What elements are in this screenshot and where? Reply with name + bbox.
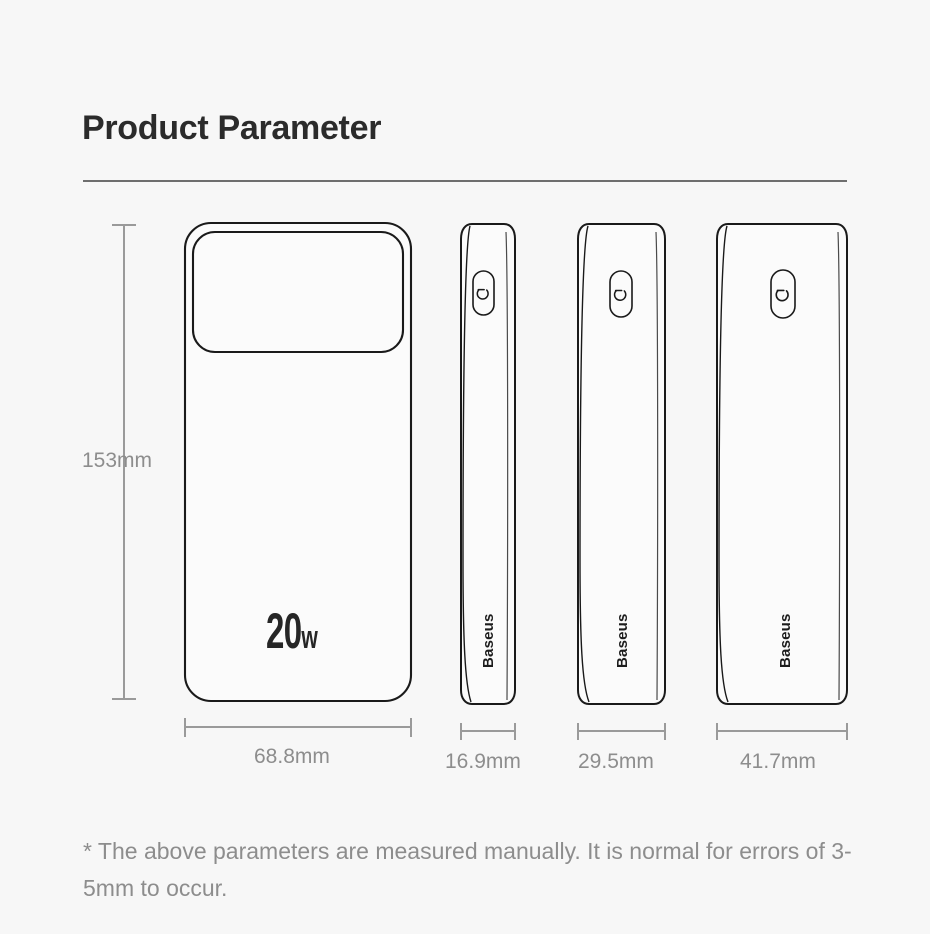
dimension-label-depth-wide: 41.7mm bbox=[740, 749, 816, 775]
dimension-label-depth-thin: 16.9mm bbox=[445, 749, 521, 775]
width-dimension-line-front bbox=[184, 718, 412, 737]
wattage-value: 20 bbox=[266, 603, 301, 659]
width-dimension-line-medium bbox=[577, 723, 666, 740]
brand-label-medium: Baseus bbox=[615, 613, 630, 668]
dimension-label-height: 153mm bbox=[82, 448, 152, 474]
wattage-label: 20w bbox=[266, 606, 317, 662]
footnote-text: * The above parameters are measured manu… bbox=[83, 833, 863, 907]
width-dimension-line-wide bbox=[716, 723, 848, 740]
wattage-unit: w bbox=[301, 619, 317, 655]
width-dimension-line-thin bbox=[460, 723, 516, 740]
brand-label-wide: Baseus bbox=[778, 613, 793, 668]
dimension-label-depth-medium: 29.5mm bbox=[578, 749, 654, 775]
dimension-label-width-front: 68.8mm bbox=[254, 744, 330, 770]
product-parameter-page: Product Parameter bbox=[0, 0, 930, 934]
brand-label-thin: Baseus bbox=[481, 613, 496, 668]
